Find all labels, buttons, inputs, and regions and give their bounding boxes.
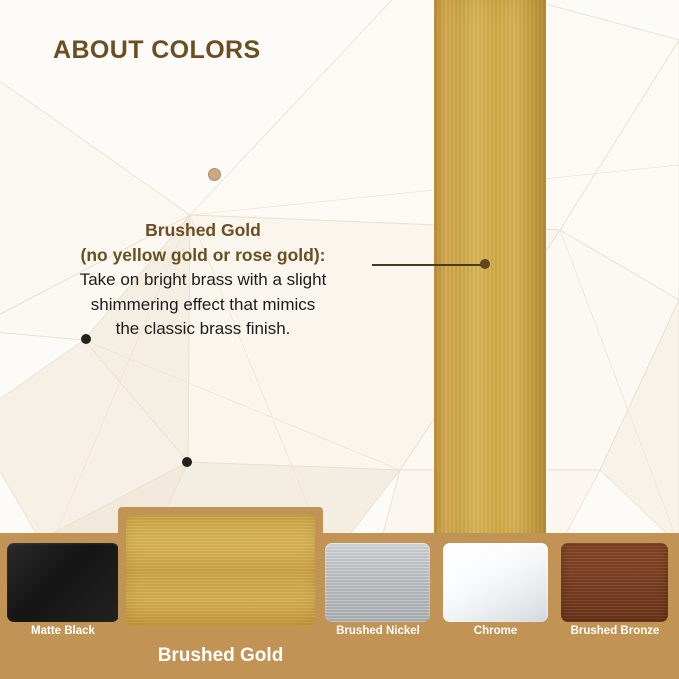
swatch-label-brushed-gold: Brushed Gold	[118, 645, 323, 667]
callout-line-2: (no yellow gold or rose gold):	[38, 243, 368, 268]
callout-leader-dot	[480, 259, 490, 269]
swatch-matte-black[interactable]	[7, 543, 119, 622]
callout-line-4: shimmering effect that mimics	[38, 293, 368, 317]
swatch-label-brushed-bronze: Brushed Bronze	[551, 625, 679, 637]
decorative-dot-tan	[208, 168, 221, 181]
swatch-chrome[interactable]	[443, 543, 548, 622]
about-colors-infographic: ABOUT COLORS Brushed Gold (no yellow gol…	[0, 0, 679, 679]
callout-line-1: Brushed Gold	[38, 218, 368, 243]
brushed-gold-description: Brushed Gold (no yellow gold or rose gol…	[38, 218, 368, 342]
callout-leader-line	[372, 264, 485, 266]
swatch-brushed-nickel[interactable]	[325, 543, 430, 622]
swatch-label-matte-black: Matte Black	[7, 625, 119, 637]
callout-line-3: Take on bright brass with a slight	[38, 268, 368, 292]
swatch-label-brushed-nickel: Brushed Nickel	[318, 625, 438, 637]
callout-line-5: the classic brass finish.	[38, 317, 368, 341]
decorative-dot-lower	[182, 457, 192, 467]
swatch-brushed-bronze[interactable]	[561, 543, 668, 622]
page-title: ABOUT COLORS	[53, 36, 261, 65]
brushed-gold-column	[434, 0, 546, 545]
swatch-brushed-gold[interactable]	[126, 515, 315, 626]
swatch-label-chrome: Chrome	[443, 625, 548, 637]
